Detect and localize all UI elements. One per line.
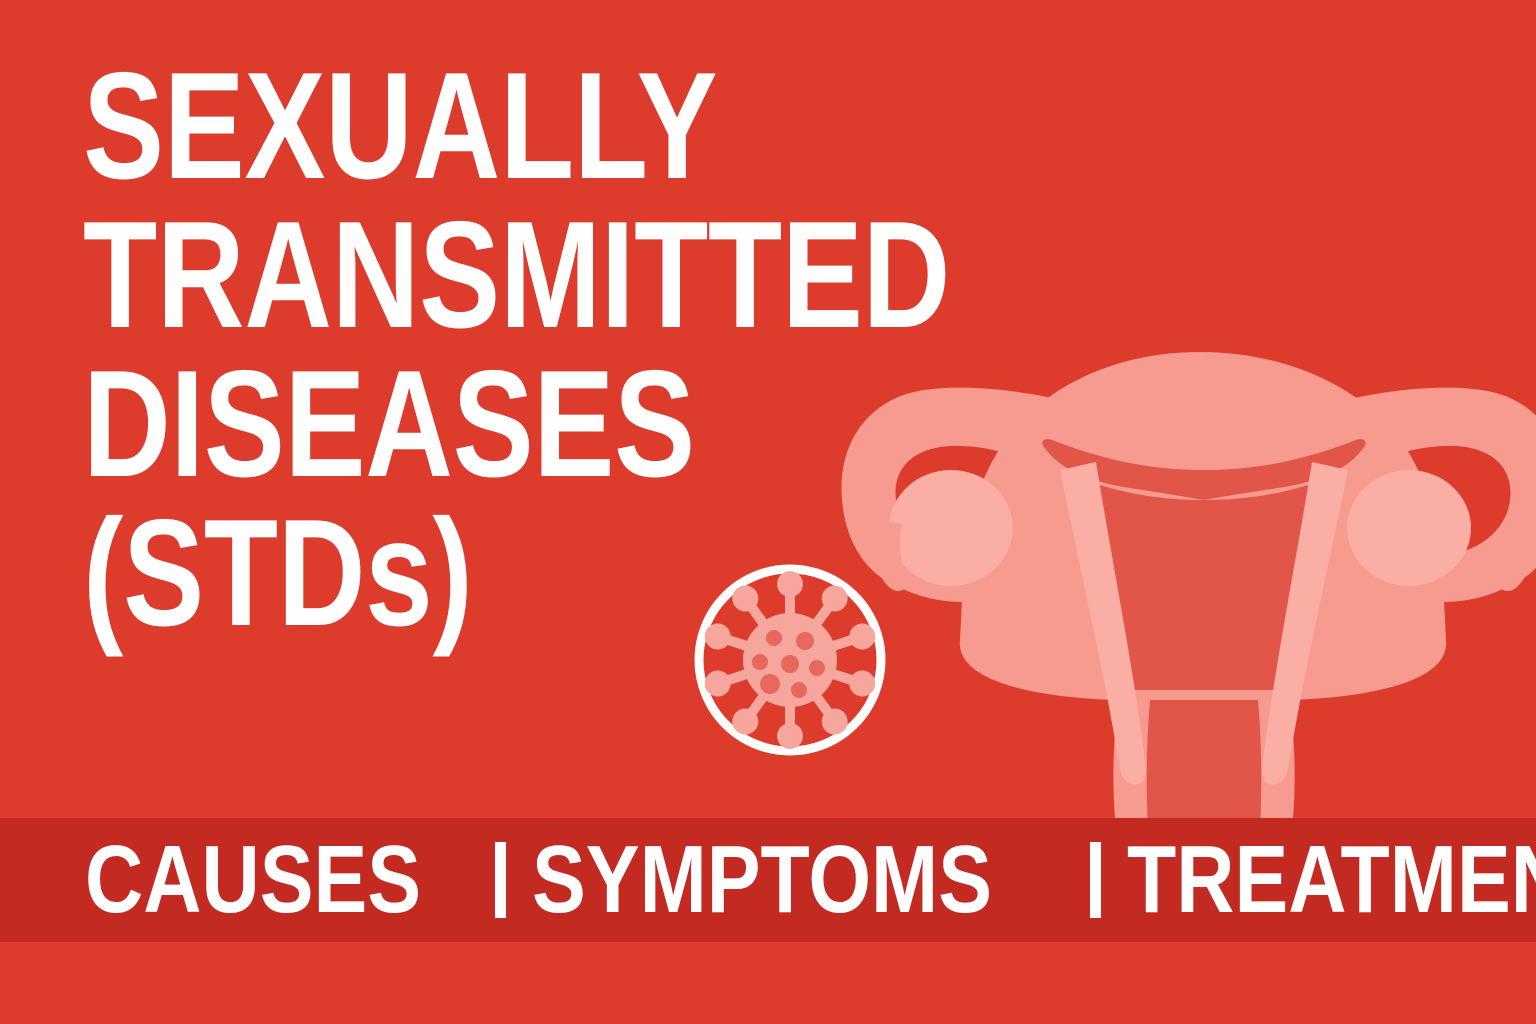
banner-separator-2 — [1090, 842, 1101, 918]
banner-item-causes: CAUSES — [85, 832, 421, 928]
banner-items: CAUSES SYMPTOMS TREATMENT — [85, 832, 1536, 928]
virus-badge — [692, 562, 888, 758]
title-line-3: DISEASES — [83, 350, 867, 499]
ovary-right — [1347, 470, 1471, 586]
bottom-banner: CAUSES SYMPTOMS TREATMENT — [0, 818, 1536, 942]
poster-canvas: SEXUALLY TRANSMITTED DISEASES (STDs) — [0, 0, 1536, 1024]
title-line-1: SEXUALLY — [83, 52, 867, 201]
banner-item-symptoms: SYMPTOMS — [532, 832, 992, 928]
title-line-2: TRANSMITTED — [83, 201, 867, 350]
page-title: SEXUALLY TRANSMITTED DISEASES (STDs) — [83, 52, 1063, 648]
banner-item-treatment: TREATMENT — [1127, 832, 1536, 928]
cervix-inner — [1147, 700, 1262, 828]
banner-separator-1 — [495, 842, 506, 918]
